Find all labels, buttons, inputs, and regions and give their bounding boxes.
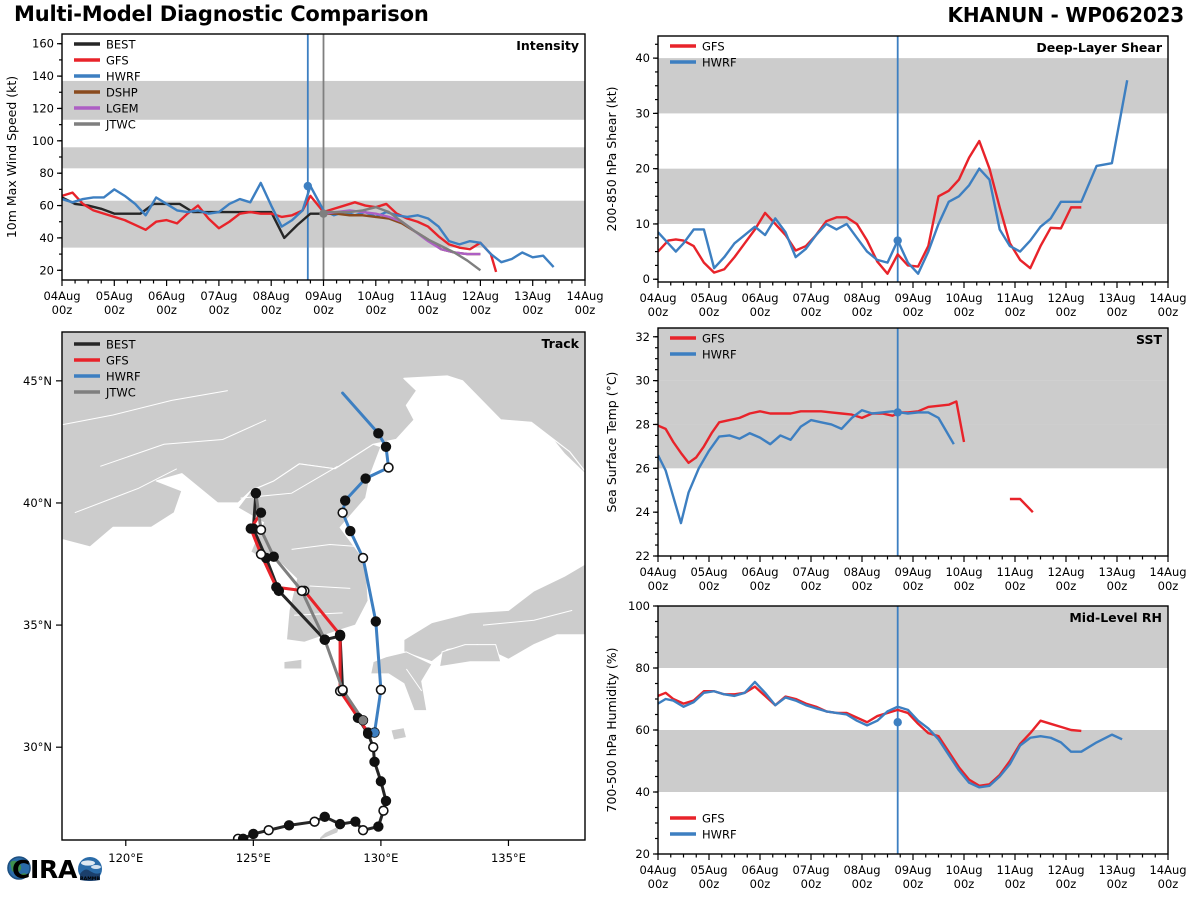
track-point-hwrf: [359, 554, 368, 563]
panel-intensity[interactable]: 2040608010012014016004Aug00z05Aug00z06Au…: [0, 22, 600, 322]
y-tick-label: 30: [635, 374, 650, 388]
legend-label-jtwc: JTWC: [105, 118, 136, 132]
x-tick-sublabel: 00z: [699, 305, 720, 319]
panel-tag-shear: Deep-Layer Shear: [1036, 40, 1162, 55]
legend-label-hwrf: HWRF: [106, 370, 141, 384]
svg-text:RAMMB: RAMMB: [80, 876, 100, 882]
hwrf-init-marker: [304, 182, 312, 190]
map-y-tick: 30°N: [23, 740, 52, 754]
panel-sst[interactable]: 22242628303204Aug00z05Aug00z06Aug00z07Au…: [600, 318, 1200, 596]
x-tick-label: 14Aug: [1149, 863, 1186, 877]
x-tick-sublabel: 00z: [1158, 305, 1179, 319]
track-point-best: [239, 834, 248, 843]
y-tick-label: 10: [635, 217, 650, 231]
x-tick-label: 06Aug: [741, 291, 778, 305]
y-tick-label: 60: [635, 723, 650, 737]
y-axis-title: Sea Surface Temp (°C): [604, 372, 619, 513]
dashboard-root: Multi-Model Diagnostic Comparison KHANUN…: [0, 0, 1200, 900]
x-tick-sublabel: 00z: [801, 579, 822, 593]
x-tick-label: 06Aug: [741, 565, 778, 579]
track-point-best: [336, 820, 345, 829]
x-tick-label: 14Aug: [1149, 291, 1186, 305]
legend-label-gfs: GFS: [702, 332, 725, 346]
x-tick-sublabel: 00z: [1107, 877, 1128, 891]
y-tick-label: 100: [628, 599, 650, 613]
x-tick-sublabel: 00z: [1005, 877, 1026, 891]
y-tick-label: 30: [635, 106, 650, 120]
x-tick-label: 08Aug: [843, 863, 880, 877]
track-point-hwrf: [371, 617, 380, 626]
y-tick-label: 28: [635, 417, 650, 431]
track-point-hwrf: [377, 685, 386, 694]
x-tick-label: 06Aug: [148, 289, 185, 303]
x-tick-sublabel: 00z: [852, 305, 873, 319]
x-tick-label: 09Aug: [305, 289, 342, 303]
x-tick-sublabel: 00z: [750, 579, 771, 593]
track-point-jtwc: [320, 635, 329, 644]
x-tick-sublabel: 00z: [1107, 579, 1128, 593]
x-tick-sublabel: 00z: [699, 579, 720, 593]
map-y-tick: 35°N: [23, 618, 52, 632]
y-tick-label: 160: [32, 37, 54, 51]
track-point-jtwc: [257, 525, 266, 534]
legend-label-gfs: GFS: [702, 812, 725, 826]
y-tick-label: 40: [39, 231, 54, 245]
y-tick-label: 80: [635, 661, 650, 675]
x-tick-sublabel: 00z: [903, 877, 924, 891]
y-tick-label: 120: [32, 101, 54, 115]
y-axis-title: 700-500 hPa Humidity (%): [604, 647, 619, 812]
x-tick-label: 06Aug: [741, 863, 778, 877]
x-tick-label: 09Aug: [894, 863, 931, 877]
x-tick-label: 10Aug: [945, 863, 982, 877]
x-tick-label: 05Aug: [690, 863, 727, 877]
track-point-gfs: [336, 630, 345, 639]
legend-label-lgem: LGEM: [106, 102, 139, 116]
track-point-hwrf: [384, 463, 393, 472]
x-tick-label: 10Aug: [945, 565, 982, 579]
cira-logo: C I R A RAMMB: [6, 848, 126, 894]
legend-label-best: BEST: [106, 38, 136, 52]
y-tick-label: 24: [635, 505, 650, 519]
track-point-jtwc: [251, 489, 260, 498]
track-map-chart: 120°E125°E130°E135°E30°N35°N40°N45°NTrac…: [0, 320, 600, 880]
legend-rh: GFSHWRF: [670, 812, 737, 842]
x-tick-sublabel: 00z: [52, 303, 73, 317]
map-x-tick: 125°E: [236, 851, 271, 865]
legend-label-hwrf: HWRF: [702, 828, 737, 842]
x-tick-label: 11Aug: [996, 565, 1033, 579]
svg-text:C: C: [12, 855, 30, 884]
x-tick-label: 07Aug: [792, 863, 829, 877]
track-point-jtwc: [269, 552, 278, 561]
x-tick-sublabel: 00z: [750, 877, 771, 891]
x-tick-label: 14Aug: [1149, 565, 1186, 579]
x-tick-sublabel: 00z: [954, 877, 975, 891]
x-tick-label: 10Aug: [945, 291, 982, 305]
x-tick-label: 07Aug: [792, 291, 829, 305]
hwrf-init-marker: [894, 236, 902, 244]
series-gfs-b: [1010, 499, 1033, 512]
x-tick-label: 05Aug: [96, 289, 133, 303]
map-y-tick: 40°N: [23, 496, 52, 510]
track-point-best: [351, 817, 360, 826]
x-tick-sublabel: 00z: [648, 579, 669, 593]
x-tick-label: 04Aug: [43, 289, 80, 303]
x-tick-sublabel: 00z: [365, 303, 386, 317]
panel-deep-layer-shear[interactable]: 01020304004Aug00z05Aug00z06Aug00z07Aug00…: [600, 22, 1200, 322]
y-tick-label: 80: [39, 166, 54, 180]
x-tick-label: 04Aug: [639, 863, 676, 877]
x-tick-sublabel: 00z: [1158, 877, 1179, 891]
panel-tag-track: Track: [542, 336, 580, 351]
svg-text:I: I: [30, 855, 39, 884]
x-tick-label: 09Aug: [894, 565, 931, 579]
track-point-best: [249, 829, 258, 838]
x-tick-label: 13Aug: [514, 289, 551, 303]
x-tick-sublabel: 00z: [1005, 305, 1026, 319]
legend-label-dshp: DSHP: [106, 86, 138, 100]
legend-label-gfs: GFS: [106, 354, 129, 368]
x-tick-sublabel: 00z: [699, 877, 720, 891]
x-tick-label: 12Aug: [1047, 565, 1084, 579]
track-point-best: [310, 817, 319, 826]
x-tick-sublabel: 00z: [903, 305, 924, 319]
panel-tag-intensity: Intensity: [516, 38, 579, 53]
x-tick-sublabel: 00z: [575, 303, 596, 317]
x-tick-label: 08Aug: [843, 291, 880, 305]
x-tick-sublabel: 00z: [470, 303, 491, 317]
y-tick-label: 20: [635, 847, 650, 861]
x-tick-sublabel: 00z: [261, 303, 282, 317]
x-tick-sublabel: 00z: [954, 305, 975, 319]
legend-label-hwrf: HWRF: [106, 70, 141, 84]
track-point-best: [320, 812, 329, 821]
x-tick-label: 07Aug: [792, 565, 829, 579]
svg-text:R: R: [39, 855, 58, 884]
legend-label-best: BEST: [106, 338, 136, 352]
x-tick-sublabel: 00z: [1056, 877, 1077, 891]
x-tick-sublabel: 00z: [209, 303, 230, 317]
track-point-current-best: [364, 729, 373, 738]
track-point-current-jtwc: [359, 716, 368, 725]
track-point-hwrf: [382, 442, 391, 451]
track-point-gfs: [257, 508, 266, 517]
y-tick-label: 32: [635, 330, 650, 344]
shear-chart: 01020304004Aug00z05Aug00z06Aug00z07Aug00…: [600, 22, 1200, 322]
track-point-best: [285, 821, 294, 830]
track-point-best: [377, 777, 386, 786]
track-point-best: [379, 806, 388, 815]
track-point-best: [264, 826, 273, 835]
x-tick-label: 07Aug: [200, 289, 237, 303]
x-tick-label: 11Aug: [996, 291, 1033, 305]
x-tick-label: 04Aug: [639, 565, 676, 579]
x-tick-label: 08Aug: [253, 289, 290, 303]
legend-label-hwrf: HWRF: [702, 56, 737, 70]
x-tick-sublabel: 00z: [1056, 579, 1077, 593]
track-point-hwrf: [346, 527, 355, 536]
x-tick-sublabel: 00z: [903, 579, 924, 593]
y-tick-label: 0: [643, 272, 650, 286]
x-tick-label: 14Aug: [566, 289, 603, 303]
x-tick-sublabel: 00z: [418, 303, 439, 317]
track-point-gfs: [257, 550, 266, 559]
y-tick-label: 40: [635, 785, 650, 799]
x-tick-label: 05Aug: [690, 565, 727, 579]
y-tick-label: 26: [635, 461, 650, 475]
track-point-hwrf: [361, 474, 370, 483]
x-tick-label: 11Aug: [410, 289, 447, 303]
x-tick-label: 05Aug: [690, 291, 727, 305]
track-point-best: [369, 743, 378, 752]
legend-label-gfs: GFS: [702, 40, 725, 54]
hwrf-init-marker: [894, 408, 902, 416]
hwrf-init-marker: [894, 718, 902, 726]
y-tick-label: 100: [32, 134, 54, 148]
track-point-best: [359, 826, 368, 835]
x-tick-sublabel: 00z: [648, 305, 669, 319]
intensity-chart: 2040608010012014016004Aug00z05Aug00z06Au…: [0, 22, 600, 322]
track-point-hwrf: [341, 496, 350, 505]
x-tick-sublabel: 00z: [1005, 579, 1026, 593]
x-tick-label: 10Aug: [357, 289, 394, 303]
track-point-best: [370, 757, 379, 766]
x-tick-label: 13Aug: [1098, 291, 1135, 305]
map-x-tick: 130°E: [363, 851, 398, 865]
rh-chart: 2040608010004Aug00z05Aug00z06Aug00z07Aug…: [600, 592, 1200, 900]
x-tick-sublabel: 00z: [750, 305, 771, 319]
x-tick-sublabel: 00z: [1107, 305, 1128, 319]
y-tick-label: 20: [39, 263, 54, 277]
y-tick-label: 140: [32, 69, 54, 83]
track-point-jtwc: [338, 685, 347, 694]
x-tick-sublabel: 00z: [522, 303, 543, 317]
x-tick-sublabel: 00z: [156, 303, 177, 317]
track-point-best: [382, 797, 391, 806]
panel-mid-level-rh[interactable]: 2040608010004Aug00z05Aug00z06Aug00z07Aug…: [600, 592, 1200, 900]
x-tick-sublabel: 00z: [1158, 579, 1179, 593]
x-tick-label: 12Aug: [1047, 291, 1084, 305]
x-tick-sublabel: 00z: [1056, 305, 1077, 319]
y-axis-title: 200-850 hPa Shear (kt): [604, 87, 619, 232]
y-tick-label: 20: [635, 162, 650, 176]
track-point-jtwc: [297, 586, 306, 595]
map-y-tick: 45°N: [23, 374, 52, 388]
x-tick-label: 12Aug: [462, 289, 499, 303]
x-tick-label: 04Aug: [639, 291, 676, 305]
x-tick-sublabel: 00z: [801, 877, 822, 891]
x-tick-label: 09Aug: [894, 291, 931, 305]
x-tick-sublabel: 00z: [852, 877, 873, 891]
x-tick-sublabel: 00z: [801, 305, 822, 319]
x-tick-label: 13Aug: [1098, 565, 1135, 579]
x-tick-label: 11Aug: [996, 863, 1033, 877]
legend-label-hwrf: HWRF: [702, 348, 737, 362]
legend-label-jtwc: JTWC: [105, 386, 136, 400]
x-tick-sublabel: 00z: [852, 579, 873, 593]
track-point-hwrf: [374, 429, 383, 438]
y-axis-title: 10m Max Wind Speed (kt): [4, 76, 19, 238]
intensity-band: [658, 730, 1168, 792]
track-point-gfs: [246, 524, 255, 533]
jtwc-init-marker: [319, 209, 327, 217]
x-tick-sublabel: 00z: [104, 303, 125, 317]
svg-text:A: A: [58, 855, 78, 884]
x-tick-sublabel: 00z: [954, 579, 975, 593]
panel-tag-sst: SST: [1136, 332, 1162, 347]
track-point-best: [374, 822, 383, 831]
x-tick-sublabel: 00z: [648, 877, 669, 891]
map-x-tick: 135°E: [491, 851, 526, 865]
y-tick-label: 60: [39, 199, 54, 213]
track-point-hwrf: [338, 508, 347, 517]
x-tick-label: 13Aug: [1098, 863, 1135, 877]
panel-tag-rh: Mid-Level RH: [1069, 610, 1162, 625]
x-tick-label: 12Aug: [1047, 863, 1084, 877]
track-point-gfs: [272, 583, 281, 592]
panel-track-map[interactable]: 120°E125°E130°E135°E30°N35°N40°N45°NTrac…: [0, 320, 600, 880]
legend-label-gfs: GFS: [106, 54, 129, 68]
y-tick-label: 22: [635, 549, 650, 563]
y-tick-label: 40: [635, 51, 650, 65]
x-tick-sublabel: 00z: [313, 303, 334, 317]
x-tick-label: 08Aug: [843, 565, 880, 579]
sst-chart: 22242628303204Aug00z05Aug00z06Aug00z07Au…: [600, 318, 1200, 596]
intensity-band: [658, 424, 1168, 468]
